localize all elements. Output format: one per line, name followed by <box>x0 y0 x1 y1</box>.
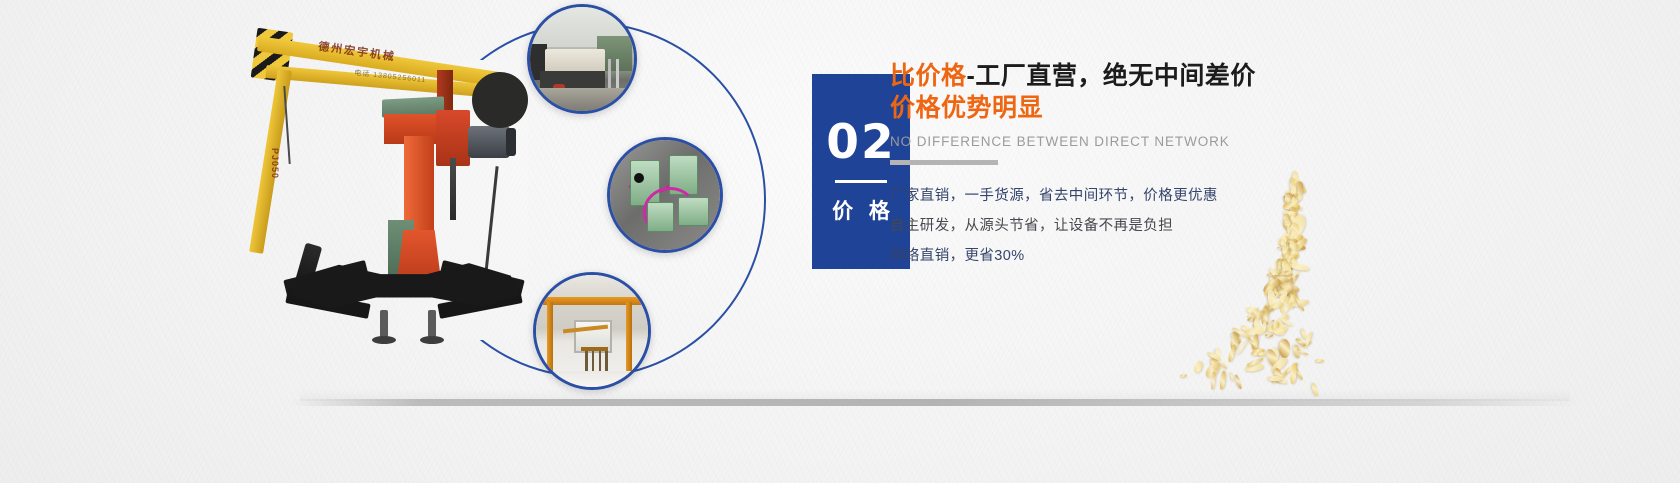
subtitle-english: NO DIFFERENCE BETWEEN DIRECT NETWORK <box>890 134 1410 149</box>
headline-line1: 比价格-工厂直营，绝无中间差价 <box>890 60 1410 93</box>
content-rule <box>890 160 998 165</box>
gold-coin <box>1267 376 1283 381</box>
motor-cap <box>506 128 516 156</box>
step-label: 价 格 <box>827 195 895 225</box>
step-number: 02 <box>826 119 895 166</box>
badge-divider <box>835 180 887 183</box>
photo-bubble-valves[interactable] <box>607 137 723 253</box>
gold-coin <box>1315 359 1324 363</box>
counterweight-circle <box>472 72 528 128</box>
product-model-text: PJ050 <box>270 148 280 198</box>
shelf-divider <box>290 399 1580 406</box>
gold-coin <box>1265 333 1273 336</box>
promo-banner: 德州宏宇机械 电话 13805256011 PJ050 <box>0 0 1680 483</box>
gold-coin <box>1278 339 1290 358</box>
gold-coin <box>1211 372 1216 390</box>
thin-pole <box>484 166 498 274</box>
motor <box>468 126 510 158</box>
gold-coin <box>1193 361 1203 374</box>
product-crane-image: 德州宏宇机械 电话 13805256011 PJ050 <box>236 18 536 358</box>
vertical-rod <box>450 158 456 220</box>
headline-line2: 价格优势明显 <box>890 92 1410 125</box>
gold-coins-graphic <box>1168 172 1348 387</box>
base-foot-right <box>428 310 436 338</box>
gold-coin <box>1234 374 1243 390</box>
headline-rest: -工厂直营，绝无中间差价 <box>967 62 1256 90</box>
gold-coin <box>1180 374 1188 378</box>
photo-bubble-workshop[interactable] <box>527 4 637 114</box>
gold-coin <box>1256 351 1265 357</box>
base-foot-left <box>380 310 388 338</box>
gold-coin <box>1219 371 1226 390</box>
photo-bubble-gantry[interactable] <box>533 272 651 390</box>
headline-highlight: 比价格 <box>890 62 967 90</box>
gold-coin <box>1229 371 1234 382</box>
